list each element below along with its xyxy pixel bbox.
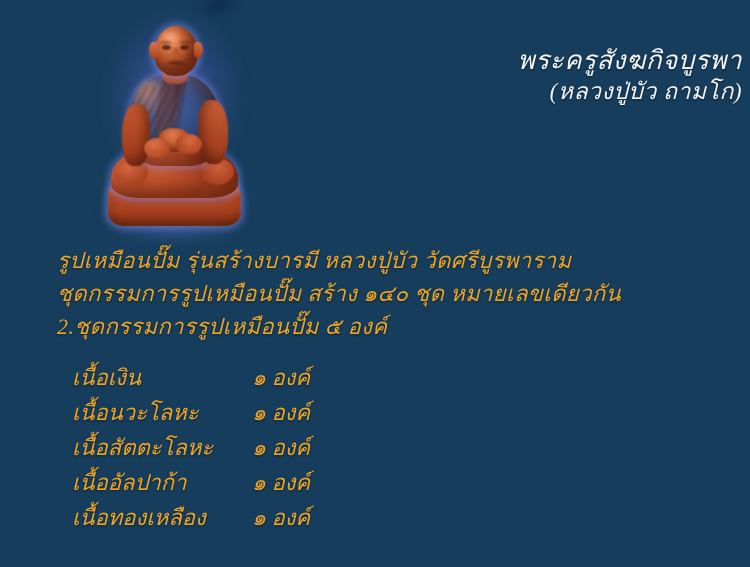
statue-arm-left bbox=[122, 104, 150, 166]
statue-robe-fold-left bbox=[124, 156, 164, 186]
list-item: เนื้อเงิน ๑ องค์ bbox=[72, 360, 310, 395]
statue-chest-folds bbox=[134, 86, 178, 132]
statue-pedestal bbox=[108, 182, 241, 226]
statue-robe-sash bbox=[149, 75, 182, 155]
statue-ear-left bbox=[149, 42, 158, 58]
statue-chest-highlight bbox=[134, 80, 168, 120]
statue-knee-left bbox=[114, 159, 148, 185]
statue-head bbox=[154, 26, 198, 76]
description-line-3: 2.ชุดกรรมการรูปเหมือนปั๊ม ๕ องค์ bbox=[57, 310, 621, 343]
statue-lap bbox=[111, 144, 238, 198]
material-quantity: ๑ องค์ bbox=[252, 360, 310, 395]
statue-arm-right bbox=[198, 100, 228, 164]
statue-forehead-highlight bbox=[160, 32, 182, 48]
background-smudge bbox=[196, 0, 240, 16]
statue-mouth bbox=[168, 61, 184, 65]
list-item: เนื้ออัลปาก้า ๑ องค์ bbox=[72, 465, 310, 500]
statue-hand-right bbox=[176, 134, 202, 154]
statue-nose bbox=[172, 48, 180, 59]
description-block: รูปเหมือนปั๊ม รุ่นสร้างบารมี หลวงปู่บัว … bbox=[57, 244, 621, 343]
material-quantity: ๑ องค์ bbox=[252, 500, 310, 535]
material-name: เนื้อทองเหลือง bbox=[72, 500, 252, 535]
material-name: เนื้อนวะโลหะ bbox=[72, 395, 252, 430]
list-item: เนื้อทองเหลือง ๑ องค์ bbox=[72, 500, 310, 535]
statue-brow-left bbox=[160, 41, 172, 44]
material-spec-list: เนื้อเงิน ๑ องค์ เนื้อนวะโลหะ ๑ องค์ เนื… bbox=[72, 360, 310, 535]
statue-neck bbox=[162, 62, 188, 84]
statue-held-bowl bbox=[158, 128, 190, 152]
statue-hand-left bbox=[144, 138, 170, 158]
statue-pedestal-highlight bbox=[112, 186, 237, 198]
page-title: พระครูสังฆกิจบูรพา (หลวงปู่บัว ถามโก) bbox=[518, 44, 742, 107]
material-quantity: ๑ องค์ bbox=[252, 430, 310, 465]
material-name: เนื้ออัลปาก้า bbox=[72, 465, 252, 500]
material-quantity: ๑ องค์ bbox=[252, 395, 310, 430]
statue-ear-right bbox=[194, 42, 203, 58]
title-monk-rank: พระครูสังฆกิจบูรพา bbox=[518, 44, 742, 77]
description-line-1: รูปเหมือนปั๊ม รุ่นสร้างบารมี หลวงปู่บัว … bbox=[57, 244, 621, 277]
statue-eye-right bbox=[180, 45, 189, 50]
title-monk-nickname: (หลวงปู่บัว ถามโก) bbox=[518, 77, 742, 106]
material-name: เนื้อสัตตะโลหะ bbox=[72, 430, 252, 465]
statue-brow-right bbox=[179, 41, 191, 44]
statue-robe-sash-inner bbox=[167, 78, 187, 149]
statue-robe-fold-right bbox=[186, 154, 228, 186]
material-name: เนื้อเงิน bbox=[72, 360, 252, 395]
monk-statue-image bbox=[104, 16, 244, 228]
list-item: เนื้อนวะโลหะ ๑ องค์ bbox=[72, 395, 310, 430]
description-line-2: ชุดกรรมการรูปเหมือนปั๊ม สร้าง ๑๔๐ ชุด หม… bbox=[57, 277, 621, 310]
statue-eye-left bbox=[162, 45, 171, 50]
statue-torso bbox=[128, 74, 221, 166]
amulet-listing-canvas: พระครูสังฆกิจบูรพา (หลวงปู่บัว ถามโก) รู… bbox=[0, 0, 750, 567]
list-item: เนื้อสัตตะโลหะ ๑ องค์ bbox=[72, 430, 310, 465]
material-quantity: ๑ องค์ bbox=[252, 465, 310, 500]
statue-glow-halo bbox=[90, 4, 258, 240]
statue-knee-right bbox=[200, 158, 234, 185]
